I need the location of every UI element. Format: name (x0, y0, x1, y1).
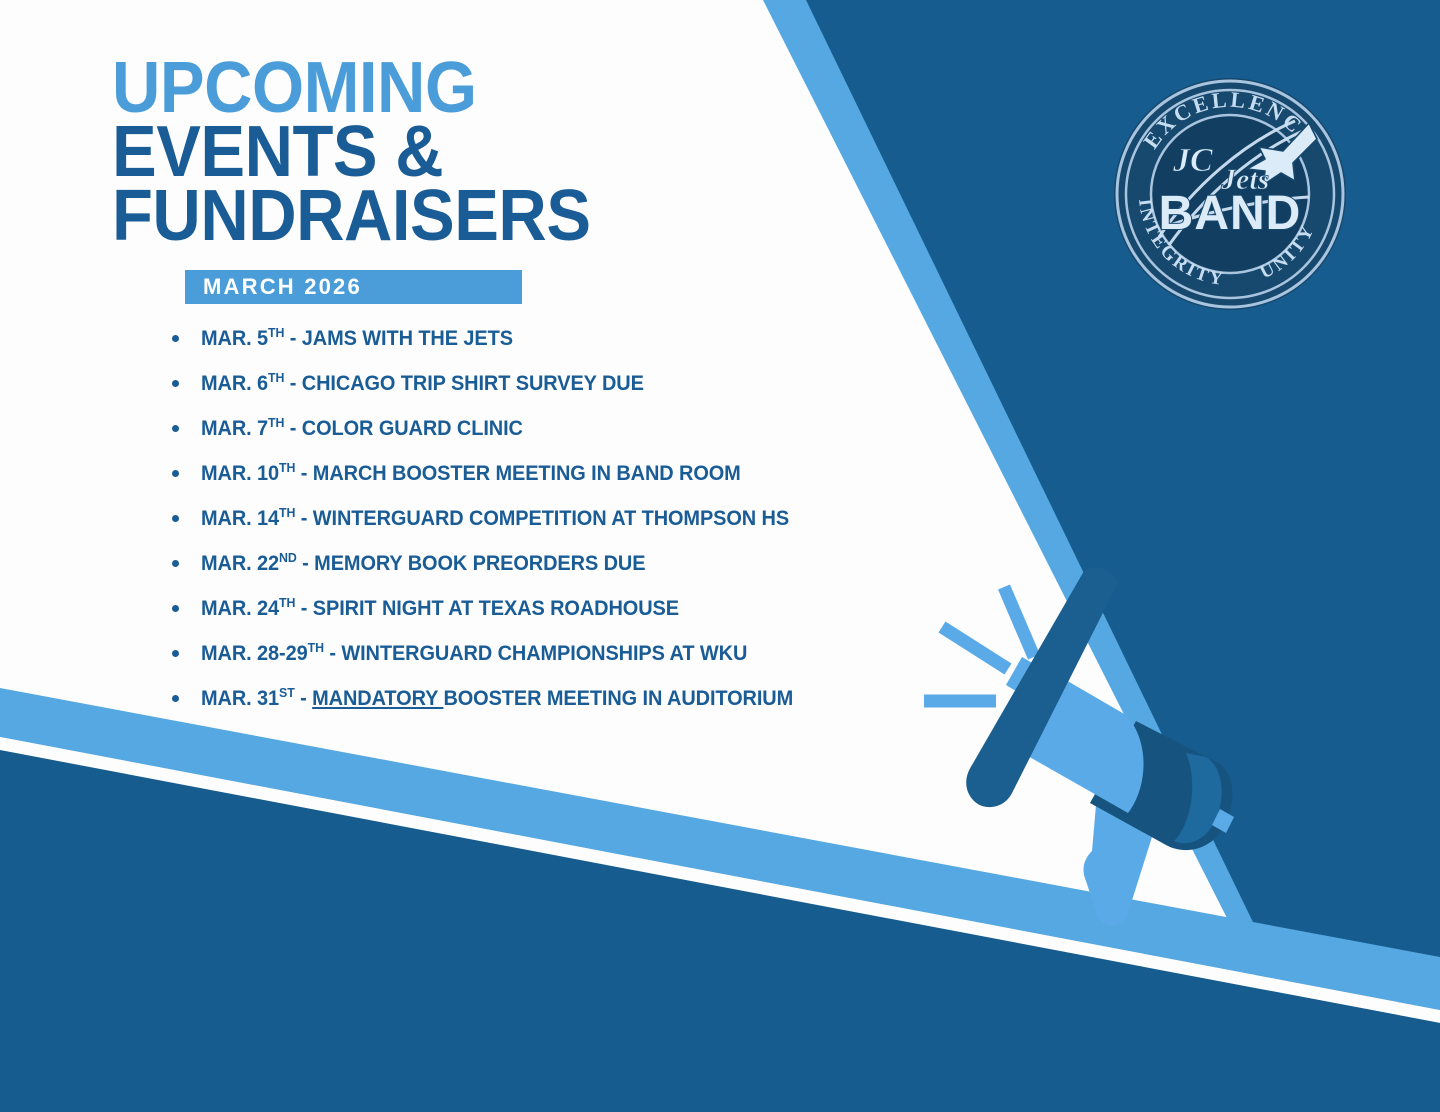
event-title: CHICAGO TRIP SHIRT SURVEY DUE (302, 372, 644, 395)
event-title: WINTERGUARD COMPETITION AT THOMPSON HS (313, 507, 789, 530)
event-date: MAR. 10 (201, 462, 279, 485)
month-badge-label: MARCH 2026 (185, 274, 362, 300)
megaphone-illustration (900, 565, 1270, 935)
event-date: MAR. 28-29 (201, 642, 308, 665)
poster-canvas: UPCOMING EVENTS & FUNDRAISERS MARCH 2026… (0, 0, 1440, 1112)
event-title: JAMS WITH THE JETS (302, 327, 513, 350)
event-separator: - (295, 597, 312, 620)
event-title: COLOR GUARD CLINIC (302, 417, 523, 440)
bullet-icon (172, 560, 179, 567)
event-date-ordinal: TH (279, 505, 295, 520)
logo-wordmark-band: BAND (1159, 187, 1302, 240)
bullet-icon (172, 515, 179, 522)
headline-line-3: FUNDRAISERS (112, 186, 689, 248)
event-date-ordinal: TH (279, 460, 295, 475)
event-separator: - (295, 687, 312, 710)
list-item: MAR. 6TH - CHICAGO TRIP SHIRT SURVEY DUE (172, 361, 1032, 406)
event-separator: - (284, 372, 301, 395)
event-separator: - (295, 462, 312, 485)
event-text: MAR. 22ND - MEMORY BOOK PREORDERS DUE (201, 553, 645, 574)
headline-line-1: UPCOMING (112, 58, 689, 120)
bullet-icon (172, 695, 179, 702)
event-date-ordinal: TH (279, 595, 295, 610)
event-text: MAR. 28-29TH - WINTERGUARD CHAMPIONSHIPS… (201, 643, 747, 664)
list-item: MAR. 10TH - MARCH BOOSTER MEETING IN BAN… (172, 451, 1032, 496)
event-text: MAR. 5TH - JAMS WITH THE JETS (201, 328, 513, 349)
event-date: MAR. 24 (201, 597, 279, 620)
bullet-icon (172, 650, 179, 657)
event-title: SPIRIT NIGHT AT TEXAS ROADHOUSE (313, 597, 679, 620)
event-date: MAR. 22 (201, 552, 279, 575)
list-item: MAR. 14TH - WINTERGUARD COMPETITION AT T… (172, 496, 1032, 541)
logo-script-jc: JC (1172, 142, 1213, 179)
event-text: MAR. 10TH - MARCH BOOSTER MEETING IN BAN… (201, 463, 741, 484)
event-separator: - (324, 642, 341, 665)
bullet-icon (172, 470, 179, 477)
event-text: MAR. 6TH - CHICAGO TRIP SHIRT SURVEY DUE (201, 373, 644, 394)
event-separator: - (284, 417, 301, 440)
month-badge: MARCH 2026 (185, 270, 522, 304)
event-emphasis: MANDATORY (312, 687, 443, 710)
sound-wave-1 (1004, 587, 1034, 657)
event-date: MAR. 14 (201, 507, 279, 530)
event-title: BOOSTER MEETING IN AUDITORIUM (443, 687, 793, 710)
event-separator: - (295, 507, 312, 530)
event-separator: - (284, 327, 301, 350)
event-title: WINTERGUARD CHAMPIONSHIPS AT WKU (341, 642, 747, 665)
bullet-icon (172, 605, 179, 612)
event-date: MAR. 7 (201, 417, 268, 440)
list-item: MAR. 5TH - JAMS WITH THE JETS (172, 316, 1032, 361)
event-separator: - (297, 552, 314, 575)
event-text: MAR. 7TH - COLOR GUARD CLINIC (201, 418, 523, 439)
bullet-icon (172, 425, 179, 432)
bullet-icon (172, 380, 179, 387)
bullet-icon (172, 335, 179, 342)
event-date-ordinal: TH (268, 370, 284, 385)
event-date-ordinal: TH (268, 415, 284, 430)
jc-jets-band-logo: EXCELLENCE INTEGRITY UNITY JC Jets BAND (1113, 77, 1347, 311)
event-date: MAR. 31 (201, 687, 279, 710)
event-title: MEMORY BOOK PREORDERS DUE (314, 552, 645, 575)
event-text: MAR. 14TH - WINTERGUARD COMPETITION AT T… (201, 508, 789, 529)
event-date: MAR. 5 (201, 327, 268, 350)
sound-wave-2 (942, 627, 1008, 669)
event-text: MAR. 24TH - SPIRIT NIGHT AT TEXAS ROADHO… (201, 598, 679, 619)
event-title: MARCH BOOSTER MEETING IN BAND ROOM (313, 462, 741, 485)
list-item: MAR. 7TH - COLOR GUARD CLINIC (172, 406, 1032, 451)
event-date-ordinal: ST (279, 685, 295, 700)
event-date-ordinal: TH (308, 640, 324, 655)
headline-line-2: EVENTS & (112, 122, 689, 184)
event-date-ordinal: TH (268, 325, 284, 340)
event-text: MAR. 31ST - MANDATORY BOOSTER MEETING IN… (201, 688, 793, 709)
right-lower-light-stripe (1369, 1016, 1440, 1112)
event-date: MAR. 6 (201, 372, 268, 395)
page-title: UPCOMING EVENTS & FUNDRAISERS (112, 58, 732, 248)
event-date-ordinal: ND (279, 550, 297, 565)
